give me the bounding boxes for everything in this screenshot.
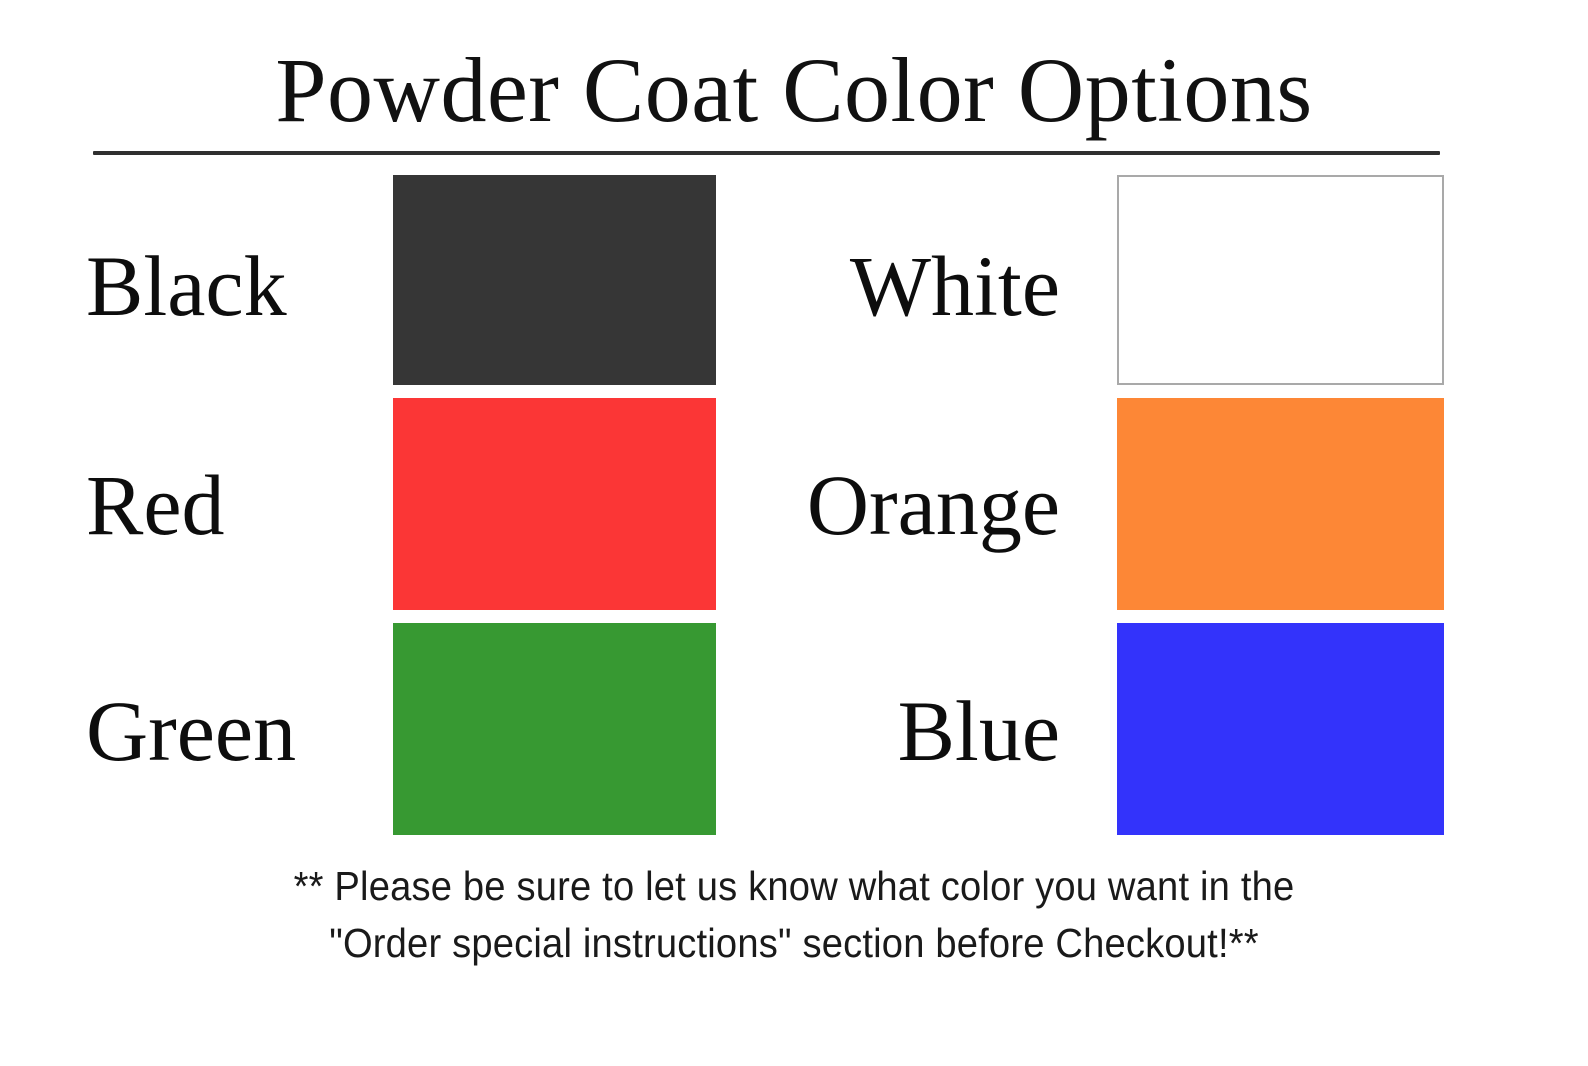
order-instructions-line-1: ** Please be sure to let us know what co… — [56, 858, 1533, 915]
color-swatch-blue[interactable] — [1117, 623, 1444, 835]
order-instructions-line-2: "Order special instructions" section bef… — [56, 915, 1533, 972]
color-label-green: Green — [86, 688, 386, 774]
color-swatch-orange[interactable] — [1117, 398, 1444, 610]
color-swatch-white[interactable] — [1117, 175, 1444, 385]
color-swatch-black[interactable] — [393, 175, 716, 385]
color-swatch-red[interactable] — [393, 398, 716, 610]
color-label-red: Red — [86, 462, 386, 548]
color-label-orange: Orange — [700, 462, 1060, 548]
order-instructions-note: ** Please be sure to let us know what co… — [0, 858, 1588, 972]
color-label-black: Black — [86, 243, 386, 329]
color-label-white: White — [700, 243, 1060, 329]
color-swatch-green[interactable] — [393, 623, 716, 835]
color-label-blue: Blue — [700, 688, 1060, 774]
powder-coat-color-chart: Powder Coat Color Options Black White Re… — [0, 0, 1588, 1066]
